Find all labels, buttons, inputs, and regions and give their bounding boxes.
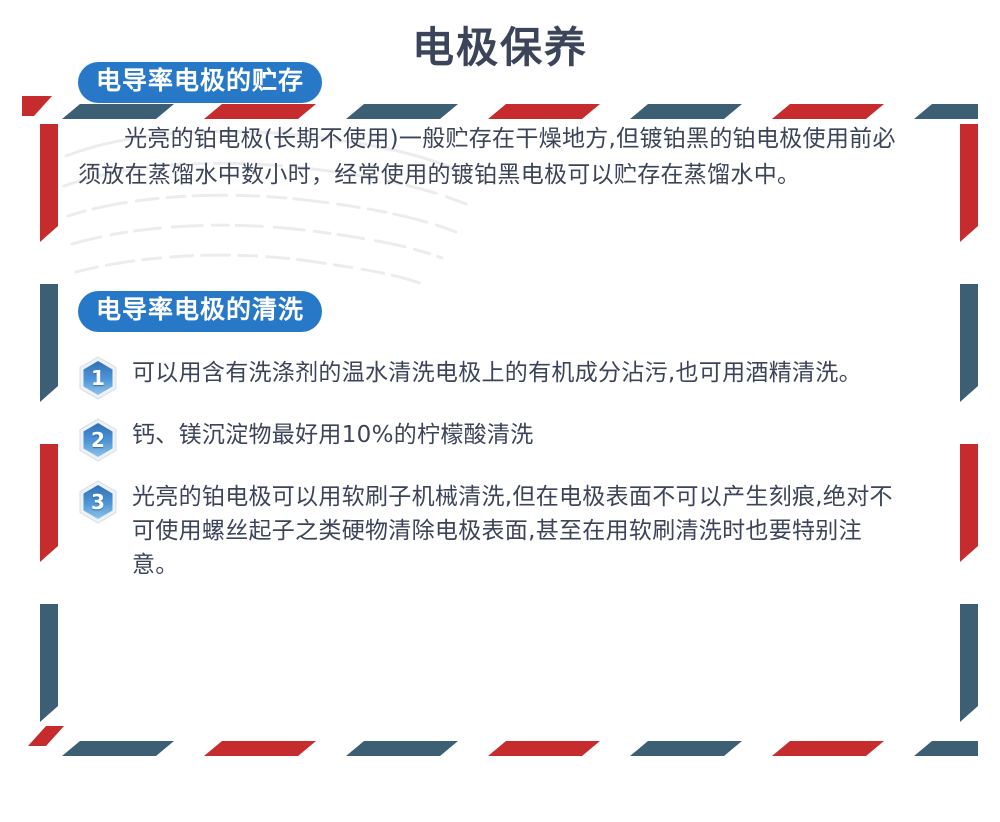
list-item: 1 可以用含有洗涤剂的温水清洗电极上的有机成分沾污,也可用酒精清洗。 [78,354,898,400]
border-seg-right-2 [960,284,978,402]
border-seg-left-1 [40,124,58,242]
corner-bottom-left-red [28,726,64,746]
section-storage: 电导率电极的贮存 光亮的铂电极(长期不使用)一般贮存在干燥地方,但镀铂黑的铂电极… [78,62,898,193]
list-item: 2 钙、镁沉淀物最好用10%的柠檬酸清洗 [78,416,898,462]
list-item: 3 光亮的铂电极可以用软刷子机械清洗,但在电极表面不可以产生刻痕,绝对不可使用螺… [78,478,898,582]
hexagon-number-badge-icon: 1 [78,356,118,400]
border-seg-left-3 [40,444,58,562]
border-edge-bottom [28,726,978,756]
hexagon-number-label: 2 [78,418,118,462]
border-edge-right [960,124,978,722]
content-area: 电导率电极的贮存 光亮的铂电极(长期不使用)一般贮存在干燥地方,但镀铂黑的铂电极… [78,62,898,598]
list-item-text: 光亮的铂电极可以用软刷子机械清洗,但在电极表面不可以产生刻痕,绝对不可使用螺丝起… [132,478,898,582]
border-seg-bottom-1 [62,741,174,756]
border-seg-right-4 [960,604,978,722]
list-item-text: 可以用含有洗涤剂的温水清洗电极上的有机成分沾污,也可用酒精清洗。 [132,354,898,390]
hexagon-number-label: 1 [78,356,118,400]
border-seg-bottom-6 [772,741,884,756]
section-cleaning: 电导率电极的清洗 1 [78,291,898,582]
hexagon-number-label: 3 [78,480,118,524]
section-badge-cleaning: 电导率电极的清洗 [78,291,322,332]
section-paragraph-storage: 光亮的铂电极(长期不使用)一般贮存在干燥地方,但镀铂黑的铂电极使用前必须放在蒸馏… [78,121,898,193]
section-badge-storage: 电导率电极的贮存 [78,62,322,103]
border-seg-left-4 [40,604,58,722]
border-seg-bottom-3 [346,741,458,756]
hexagon-number-badge-icon: 3 [78,480,118,524]
border-seg-bottom-7 [914,741,978,756]
border-seg-right-3 [960,444,978,562]
corner-top-left-red [22,96,52,116]
hexagon-number-badge-icon: 2 [78,418,118,462]
list-item-text: 钙、镁沉淀物最好用10%的柠檬酸清洗 [132,416,898,452]
border-seg-bottom-2 [204,741,316,756]
border-seg-top-7 [914,104,978,119]
cleaning-steps-list: 1 可以用含有洗涤剂的温水清洗电极上的有机成分沾污,也可用酒精清洗。 2 钙、镁… [78,354,898,582]
border-edge-left [40,124,58,722]
border-seg-right-1 [960,124,978,242]
border-seg-bottom-4 [488,741,600,756]
border-seg-bottom-5 [630,741,742,756]
border-seg-left-2 [40,284,58,402]
